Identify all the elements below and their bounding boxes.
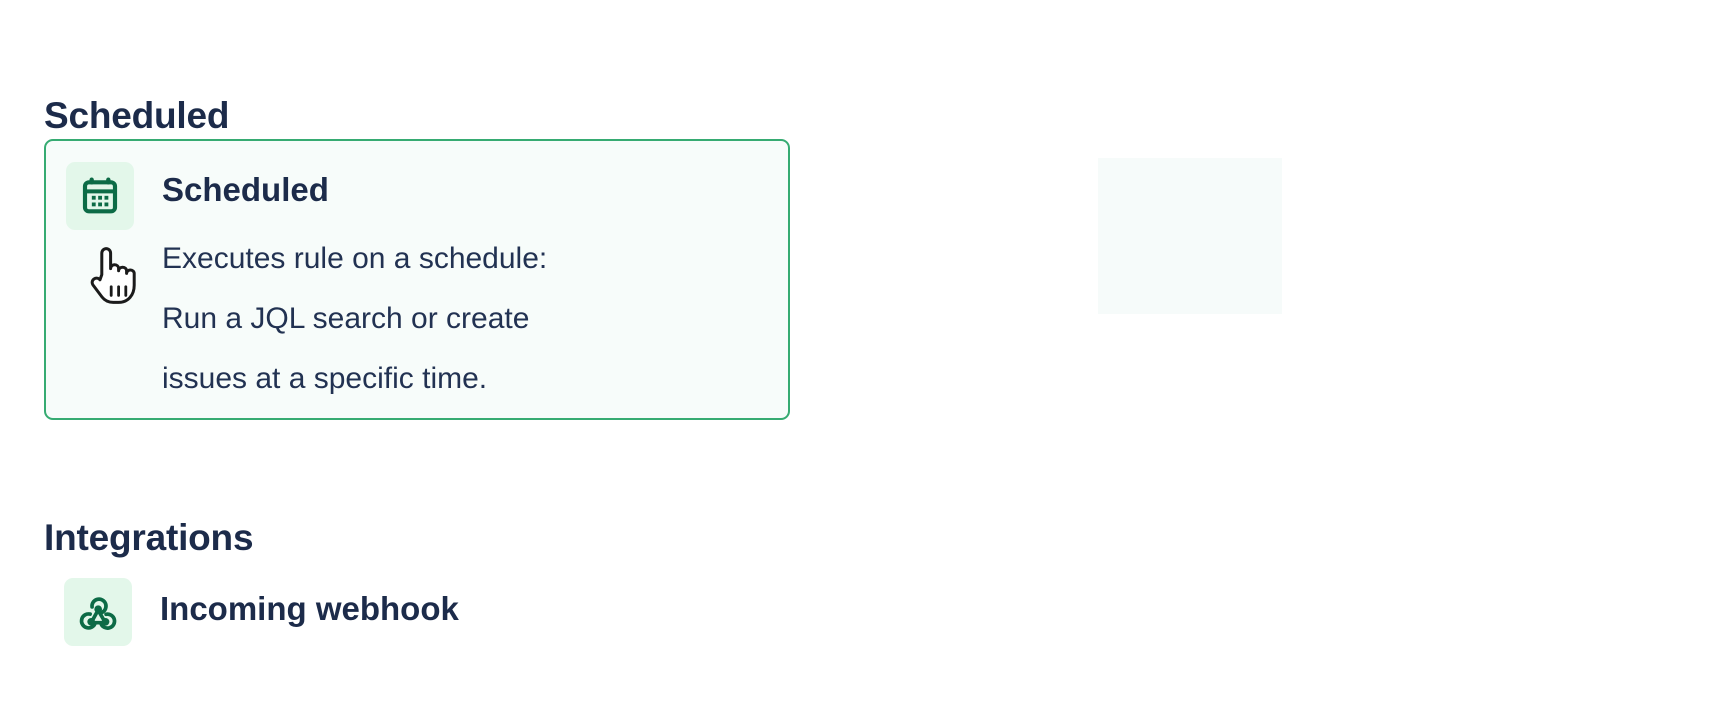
trigger-card-description: Executes rule on a schedule: Run a JQL s… [162, 229, 752, 409]
webhook-icon [77, 591, 119, 633]
section-heading-scheduled: Scheduled [44, 93, 229, 139]
trigger-card-title: Scheduled [162, 169, 329, 211]
background-panel [1098, 158, 1282, 314]
description-line-3: issues at a specific time. [162, 349, 752, 409]
trigger-card-scheduled[interactable]: Scheduled Executes rule on a schedule: R… [44, 139, 790, 420]
description-line-2: Run a JQL search or create [162, 289, 752, 349]
description-line-1: Executes rule on a schedule: [162, 229, 752, 289]
trigger-picker-page: Scheduled Scheduled Executes rule on a s… [0, 0, 1710, 714]
calendar-icon [80, 176, 120, 216]
webhook-icon-tile [64, 578, 132, 646]
section-heading-integrations: Integrations [44, 515, 253, 561]
calendar-icon-tile [66, 162, 134, 230]
trigger-item-title: Incoming webhook [160, 587, 459, 631]
trigger-item-incoming-webhook[interactable]: Incoming webhook [44, 575, 786, 675]
